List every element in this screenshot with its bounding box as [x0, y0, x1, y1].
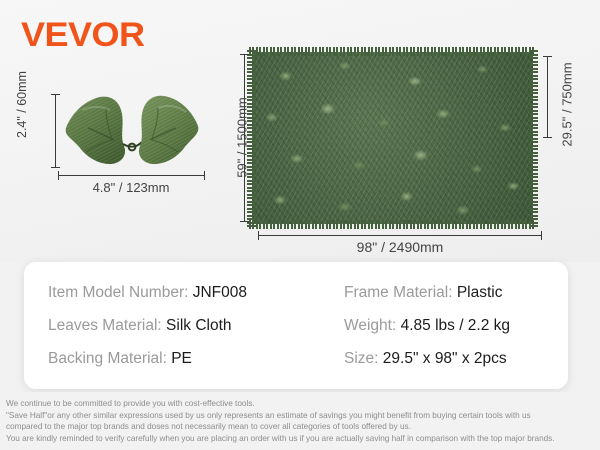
spec-row-leaves-material: Leaves Material: Silk Cloth	[48, 309, 338, 342]
panel-half-height-dimension-line	[547, 56, 548, 138]
spec-value: PE	[171, 350, 192, 367]
leaf-sample-diagram: 2.4" / 60mm 4.8" / 123mm	[10, 88, 215, 198]
vevor-logo: VEVOR	[21, 18, 145, 52]
spec-column-left: Item Model Number: JNF008 Leaves Materia…	[48, 276, 338, 375]
panel-height-label: 59" / 1500mm	[235, 63, 250, 213]
spec-row-backing-material: Backing Material: PE	[48, 342, 338, 375]
disclaimer-footer: We continue to be committed to provide y…	[0, 392, 600, 450]
spec-row-item-model-number: Item Model Number: JNF008	[48, 276, 338, 309]
leaf-width-label: 4.8" / 123mm	[50, 180, 212, 195]
panel-width-dimension-line	[258, 235, 542, 236]
disclaimer-line: You are kindly reminded to verify carefu…	[6, 433, 594, 445]
spec-row-frame-material: Frame Material: Plastic	[344, 276, 564, 309]
hedge-panel-image	[252, 52, 533, 224]
leaf-width-dimension-line	[58, 175, 205, 176]
spec-label: Item Model Number:	[48, 284, 188, 301]
disclaimer-line: compared to the major top brands and dos…	[6, 421, 594, 433]
panel-width-label: 98" / 2490mm	[258, 239, 542, 255]
spec-value: 29.5" x 98" x 2pcs	[383, 350, 507, 367]
disclaimer-line: We continue to be committed to provide y…	[6, 398, 594, 410]
spec-column-right: Frame Material: Plastic Weight: 4.85 lbs…	[344, 276, 564, 375]
spec-label: Backing Material:	[48, 350, 167, 367]
spec-value: Silk Cloth	[166, 317, 231, 334]
leaf-height-label: 2.4" / 60mm	[15, 76, 29, 138]
product-illustration-area: VEVOR	[0, 0, 600, 262]
spec-row-size: Size: 29.5" x 98" x 2pcs	[344, 342, 564, 375]
spec-value: JNF008	[193, 284, 247, 301]
specification-card: Item Model Number: JNF008 Leaves Materia…	[24, 262, 568, 389]
foliage-texture	[252, 52, 533, 224]
spec-label: Leaves Material:	[48, 317, 162, 334]
spec-value: 4.85 lbs / 2.2 kg	[401, 317, 510, 334]
spec-row-weight: Weight: 4.85 lbs / 2.2 kg	[344, 309, 564, 342]
spec-label: Size:	[344, 350, 378, 367]
leaf-height-dimension-line	[55, 94, 56, 168]
leaf-pair-illustration	[62, 92, 202, 170]
panel-half-height-label: 29.5" / 750mm	[560, 25, 575, 185]
disclaimer-line: "Save Half"or any other similar expressi…	[6, 410, 594, 422]
spec-label: Frame Material:	[344, 284, 453, 301]
spec-label: Weight:	[344, 317, 396, 334]
spec-value: Plastic	[457, 284, 503, 301]
